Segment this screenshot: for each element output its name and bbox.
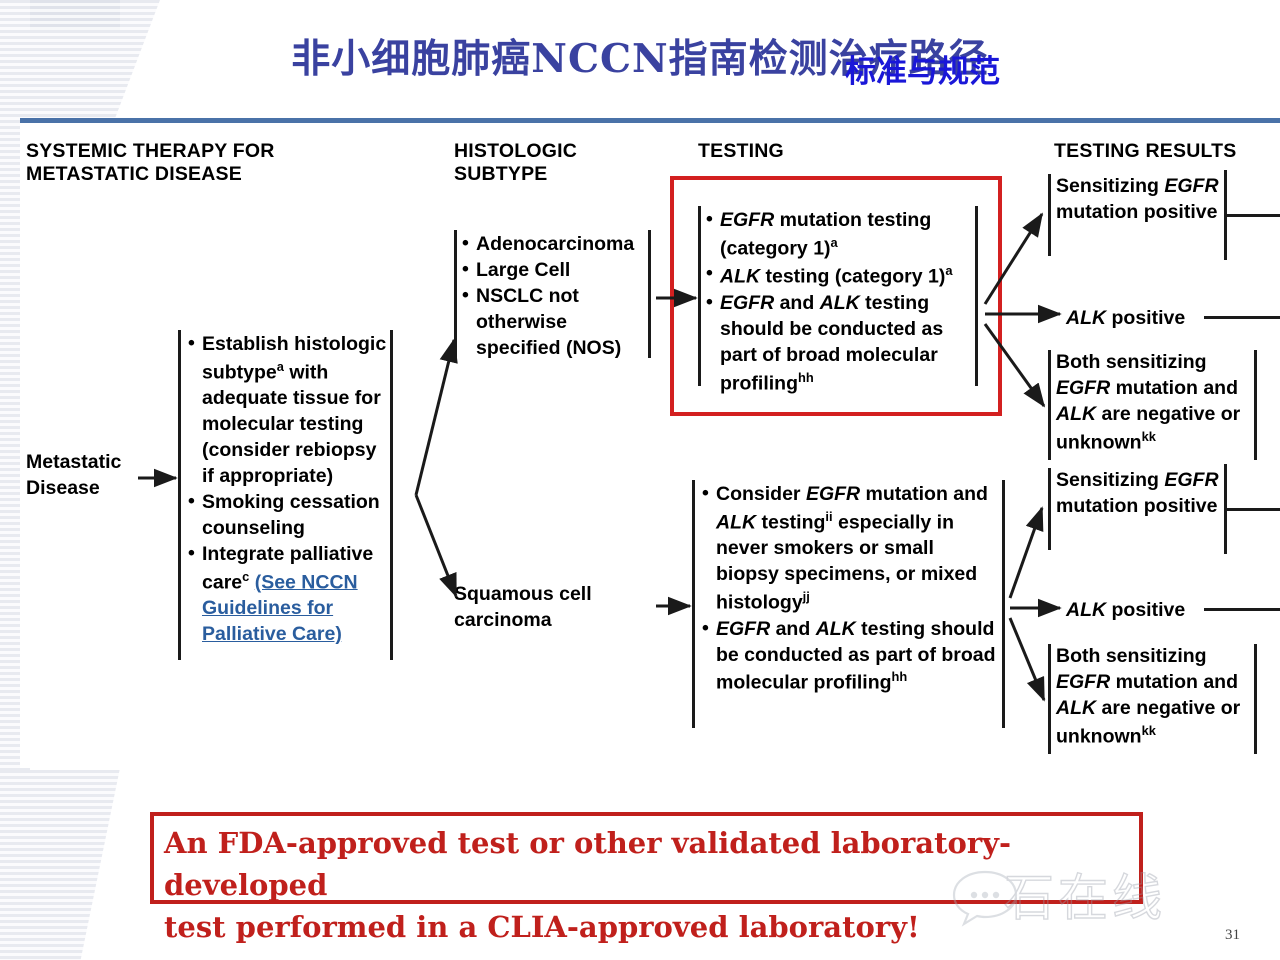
connector-line-result-top-egfr — [1224, 214, 1280, 217]
fda-notice-line2: test performed in a CLIA-approved labora… — [164, 906, 1104, 948]
testing-nonsquamous-bullet-list: EGFR mutation testing (category 1)aALK t… — [706, 208, 978, 397]
connector-bar-result-bottom-negative — [1254, 644, 1257, 754]
bullet-item: Integrate palliative carec (See NCCN Gui… — [188, 542, 388, 648]
bullet-item: Large Cell — [462, 258, 654, 284]
connector-line-result-top-alk — [1204, 316, 1280, 319]
node-result-both-negative-bottom: Both sensitizing EGFR mutation and ALK a… — [1056, 644, 1252, 750]
node-result-alk-positive-top: ALK positive — [1066, 306, 1216, 332]
node-testing-nonsquamous: EGFR mutation testing (category 1)aALK t… — [706, 208, 978, 397]
column-heading-systemic-therapy: SYSTEMIC THERAPY FORMETASTATIC DISEASE — [26, 140, 275, 186]
bracket-bar-workup-left — [178, 330, 181, 660]
arrow-workup-to-squamous — [416, 495, 456, 596]
header-divider-rule — [20, 118, 1280, 123]
fda-notice-line1: An FDA-approved test or other validated … — [164, 822, 1104, 906]
bracket-bar-result-bottom-egfr — [1048, 468, 1051, 550]
fda-notice-text: An FDA-approved test or other validated … — [164, 822, 1104, 948]
node-testing-squamous: Consider EGFR mutation and ALK testingii… — [702, 482, 1002, 697]
page-number: 31 — [1225, 927, 1240, 944]
bullet-item: EGFR and ALK testing should be conducted… — [706, 291, 978, 397]
bracket-bar-result-top-negative — [1048, 350, 1051, 460]
bullet-item: EGFR mutation testing (category 1)a — [706, 208, 978, 262]
arrow-testing-to-both-negative-bottom — [1010, 618, 1044, 700]
bullet-item: Adenocarcinoma — [462, 232, 654, 258]
slide-title: 非小细胞肺癌NCCN指南检测治疗路径 — [0, 28, 1280, 84]
bullet-item: EGFR and ALK testing should be conducted… — [702, 617, 1002, 697]
testing-squamous-bullet-list: Consider EGFR mutation and ALK testingii… — [702, 482, 1002, 697]
chinese-annotation-standards: 标准与规范 — [845, 46, 1000, 91]
arrow-testing-to-egfr-positive-bottom — [1010, 508, 1042, 598]
bracket-bar-testing-sq-left — [692, 480, 695, 728]
connector-bar-result-top-negative — [1254, 350, 1257, 460]
node-workup-steps: Establish histologic subtypea with adequ… — [188, 332, 388, 648]
bracket-bar-workup-right — [390, 330, 393, 660]
bracket-bar-result-top-egfr — [1048, 174, 1051, 256]
bracket-bar-testing-nonsq-left — [698, 206, 701, 386]
node-result-alk-positive-bottom: ALK positive — [1066, 598, 1216, 624]
diagram-panel: SYSTEMIC THERAPY FORMETASTATIC DISEASE H… — [20, 118, 1280, 768]
connector-line-result-bottom-egfr — [1224, 508, 1280, 511]
bullet-item: Consider EGFR mutation and ALK testingii… — [702, 482, 1002, 617]
bracket-bar-nonsquamous-left — [454, 230, 457, 358]
node-metastatic-disease: MetastaticDisease — [26, 450, 176, 502]
column-heading-testing: TESTING — [698, 140, 784, 163]
bracket-bar-testing-sq-right — [1002, 480, 1005, 728]
column-heading-testing-results: TESTING RESULTS — [1054, 140, 1236, 163]
node-result-egfr-positive-bottom: Sensitizing EGFR mutation positive — [1056, 468, 1226, 520]
bullet-item: ALK testing (category 1)a — [706, 262, 978, 290]
bracket-bar-result-bottom-negative — [1048, 644, 1051, 754]
nonsquamous-bullet-list: AdenocarcinomaLarge CellNSCLC not otherw… — [462, 232, 654, 362]
bullet-item: Establish histologic subtypea with adequ… — [188, 332, 388, 490]
slide-canvas: 非小细胞肺癌NCCN指南检测治疗路径 SYSTEMIC THERAPY FORM… — [0, 0, 1280, 960]
column-heading-histologic-subtype: HISTOLOGICSUBTYPE — [454, 140, 577, 186]
connector-line-result-bottom-alk — [1204, 608, 1280, 611]
bullet-item: NSCLC not otherwise specified (NOS) — [462, 284, 654, 362]
workup-bullet-list: Establish histologic subtypea with adequ… — [188, 332, 388, 648]
decorative-stripe-band-corner — [0, 0, 120, 30]
node-result-both-negative-top: Both sensitizing EGFR mutation and ALK a… — [1056, 350, 1252, 456]
arrow-workup-to-nonsquamous — [416, 340, 454, 495]
node-subtype-squamous: Squamous cellcarcinoma — [454, 582, 654, 634]
node-subtype-nonsquamous: AdenocarcinomaLarge CellNSCLC not otherw… — [462, 232, 654, 362]
node-result-egfr-positive-top: Sensitizing EGFR mutation positive — [1056, 174, 1226, 226]
fda-notice-banner: An FDA-approved test or other validated … — [150, 812, 1143, 904]
decorative-stripe-band-bottom — [0, 770, 130, 960]
bullet-item: Smoking cessation counseling — [188, 490, 388, 542]
